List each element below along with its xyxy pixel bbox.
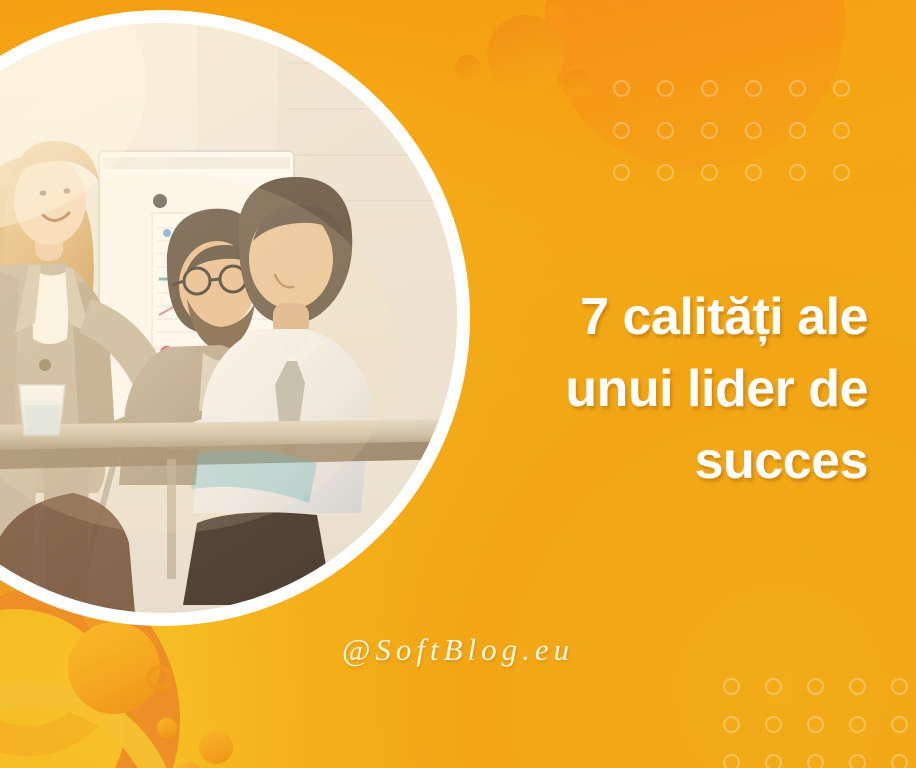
- grid-dot-icon: [833, 164, 850, 181]
- decorative-circle-bottom-left-small: [199, 730, 233, 764]
- title-line-3: succes: [468, 425, 868, 497]
- grid-dot-icon: [765, 754, 782, 768]
- grid-dot-icon: [765, 716, 782, 733]
- grid-dot-icon: [701, 164, 718, 181]
- grid-dot-icon: [701, 80, 718, 97]
- grid-dot-icon: [723, 754, 740, 768]
- grid-dot-icon: [765, 678, 782, 695]
- grid-dot-icon: [723, 678, 740, 695]
- grid-dot-icon: [849, 716, 866, 733]
- meeting-photo: [0, 23, 457, 613]
- grid-dot-icon: [807, 716, 824, 733]
- grid-dot-icon: [745, 122, 762, 139]
- grid-dot-icon: [745, 164, 762, 181]
- decorative-ring-bottom-left-small: [146, 665, 172, 691]
- grid-dot-icon: [807, 754, 824, 768]
- grid-dot-icon: [723, 716, 740, 733]
- grid-dot-icon: [807, 678, 824, 695]
- grid-dot-icon: [657, 80, 674, 97]
- grid-dot-icon: [891, 716, 908, 733]
- grid-dot-icon: [613, 122, 630, 139]
- poster-canvas: 7 calități ale unui lider de succes @Sof…: [0, 0, 916, 768]
- grid-dot-icon: [613, 80, 630, 97]
- grid-dot-icon: [789, 164, 806, 181]
- watermark-handle: @SoftBlog.eu: [0, 632, 916, 668]
- dot-grid-top-right: [613, 80, 877, 206]
- grid-dot-icon: [789, 122, 806, 139]
- grid-dot-icon: [891, 754, 908, 768]
- page-title: 7 calități ale unui lider de succes: [468, 281, 868, 497]
- title-line-1: 7 calități ale: [468, 281, 868, 353]
- grid-dot-icon: [657, 122, 674, 139]
- decorative-circle-top-small-2: [564, 70, 590, 96]
- grid-dot-icon: [789, 80, 806, 97]
- grid-dot-icon: [833, 80, 850, 97]
- dot-grid-bottom-right: [723, 678, 916, 768]
- grid-dot-icon: [745, 80, 762, 97]
- decorative-circle-bottom-left-tiny: [157, 718, 177, 738]
- grid-dot-icon: [849, 754, 866, 768]
- grid-dot-icon: [701, 122, 718, 139]
- decorative-circle-bottom-left-edge: [176, 762, 202, 768]
- grid-dot-icon: [657, 164, 674, 181]
- title-line-2: unui lider de: [468, 353, 868, 425]
- decorative-circle-top-medium: [487, 15, 565, 93]
- grid-dot-icon: [613, 164, 630, 181]
- grid-dot-icon: [849, 678, 866, 695]
- photo-circle-frame: [0, 10, 470, 626]
- grid-dot-icon: [833, 122, 850, 139]
- decorative-circle-top-small-1: [455, 55, 481, 81]
- grid-dot-icon: [891, 678, 908, 695]
